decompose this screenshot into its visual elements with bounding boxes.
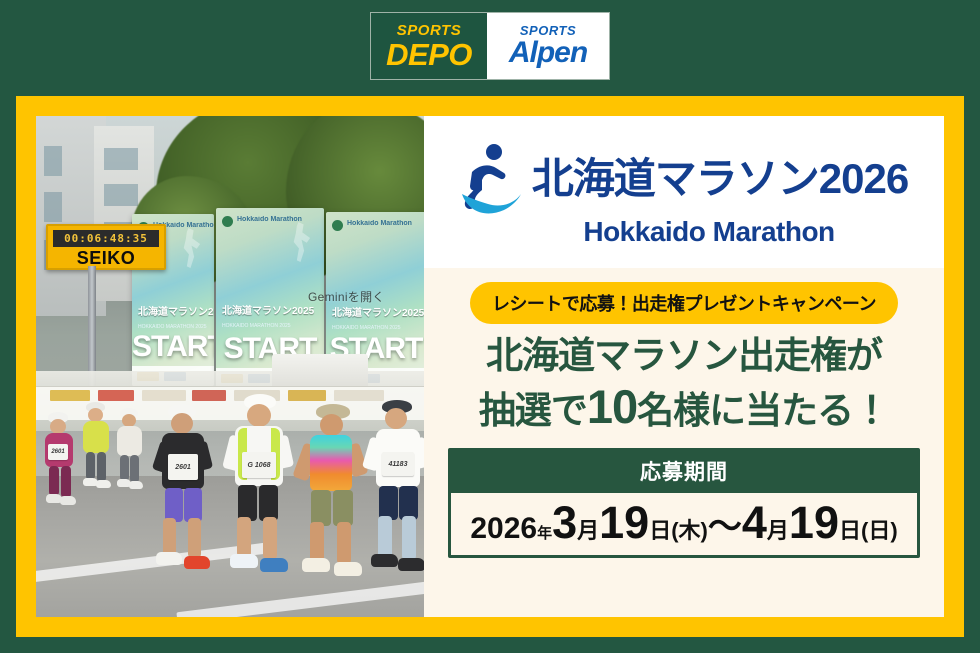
- runner-figure: [114, 408, 148, 496]
- campaign-pill-wrapper: レシートで応募！出走権プレゼントキャンペーン: [424, 268, 944, 330]
- retailer-logo-strip: SPORTS DEPO SPORTS Alpen: [370, 12, 610, 80]
- seiko-race-clock: 00:06:48:35 SEIKO: [46, 224, 166, 270]
- period-start-month: 3: [552, 497, 577, 548]
- board-emblem-icon: [332, 220, 343, 231]
- marathon-photo: Hokkaido Marathon 北海道マラソン2025 HOKKAIDO M…: [36, 116, 424, 617]
- barrier-ad: [98, 390, 134, 401]
- board-sub-label: HOKKAIDO MARATHON 2025: [222, 323, 291, 329]
- period-range-separator: 〜: [708, 508, 742, 546]
- sports-alpen-logo: SPORTS Alpen: [487, 13, 609, 79]
- period-day-unit: 日: [649, 518, 671, 543]
- board-runner-icon: [178, 228, 204, 268]
- barrier-ad: [50, 390, 90, 401]
- promo-card-inner: Hokkaido Marathon 北海道マラソン2025 HOKKAIDO M…: [36, 116, 944, 617]
- runner-figure: [80, 402, 116, 494]
- sports-depo-logo: SPORTS DEPO: [371, 13, 487, 79]
- period-end-month: 4: [742, 497, 767, 548]
- gemini-open-overlay-text: Geminiを開く: [308, 288, 385, 305]
- period-month-unit: 月: [577, 518, 599, 543]
- board-sub-label: HOKKAIDO MARATHON 2025: [332, 325, 401, 331]
- application-period-label: 応募期間: [451, 451, 917, 493]
- application-period-box: 応募期間 2026年3月19日(木)〜4月19日(日): [448, 448, 920, 558]
- headline-suffix: 名様に当たる！: [637, 390, 889, 431]
- depo-brand-label: DEPO: [386, 39, 472, 70]
- marathon-runner-mark-icon: [460, 142, 522, 216]
- period-year: 2026: [470, 512, 537, 545]
- period-end-day-unit: 日: [839, 518, 861, 543]
- period-start-weekday: (木): [671, 518, 708, 543]
- campaign-pill-label: レシートで応募！出走権プレゼントキャンペーン: [470, 282, 898, 324]
- period-end-day: 19: [789, 497, 839, 548]
- application-period-value: 2026年3月19日(木)〜4月19日(日): [451, 493, 917, 555]
- seiko-brand-label: SEIKO: [48, 248, 164, 269]
- runner-figure-rainbow: [294, 404, 370, 590]
- runner-figure-primary: 2601: [146, 404, 218, 580]
- board-emblem-icon: [222, 216, 233, 227]
- period-end-weekday: (日): [861, 518, 898, 543]
- alpen-brand-label: Alpen: [509, 38, 587, 68]
- runner-figure: 2601: [40, 412, 80, 508]
- clock-display: 00:06:48:35: [53, 230, 159, 247]
- barrier-ad: [142, 390, 186, 401]
- board-en-label: Hokkaido Marathon: [237, 216, 302, 223]
- board-runner-icon: [288, 222, 314, 262]
- marathon-title: 北海道マラソン2026: [532, 158, 908, 200]
- clock-digits: 00:06:48:35: [64, 232, 148, 245]
- clock-pole: [88, 266, 96, 386]
- headline-prefix: 抽選で: [479, 390, 587, 431]
- board-jp-label: 北海道マラソン2025: [222, 302, 314, 317]
- board-start-label: START: [132, 330, 214, 364]
- campaign-content: 北海道マラソン2026 Hokkaido Marathon レシートで応募！出走…: [424, 116, 944, 617]
- runner-figure-right: 41183: [362, 400, 424, 588]
- period-end-month-unit: 月: [767, 518, 789, 543]
- campaign-headline: 北海道マラソン出走権が 抽選で10名様に当たる！: [424, 330, 944, 436]
- promo-card-frame: Hokkaido Marathon 北海道マラソン2025 HOKKAIDO M…: [16, 96, 964, 637]
- hokkaido-marathon-logo: 北海道マラソン2026 Hokkaido Marathon: [424, 116, 944, 268]
- depo-sports-label: SPORTS: [397, 23, 461, 38]
- period-year-unit: 年: [537, 525, 552, 542]
- marathon-subtitle: Hokkaido Marathon: [583, 218, 834, 246]
- headline-winner-count: 10: [587, 380, 637, 433]
- period-start-day: 19: [599, 497, 649, 548]
- board-jp-label: 北海道マラソン2025: [332, 304, 424, 319]
- board-jp-label: 北海道マラソン2025: [138, 303, 214, 318]
- headline-line-2: 抽選で10名様に当たる！: [424, 381, 944, 433]
- runner-figure-vest: G 1068: [218, 394, 298, 584]
- board-en-label: Hokkaido Marathon: [347, 220, 412, 227]
- headline-line-1: 北海道マラソン出走権が: [424, 336, 944, 377]
